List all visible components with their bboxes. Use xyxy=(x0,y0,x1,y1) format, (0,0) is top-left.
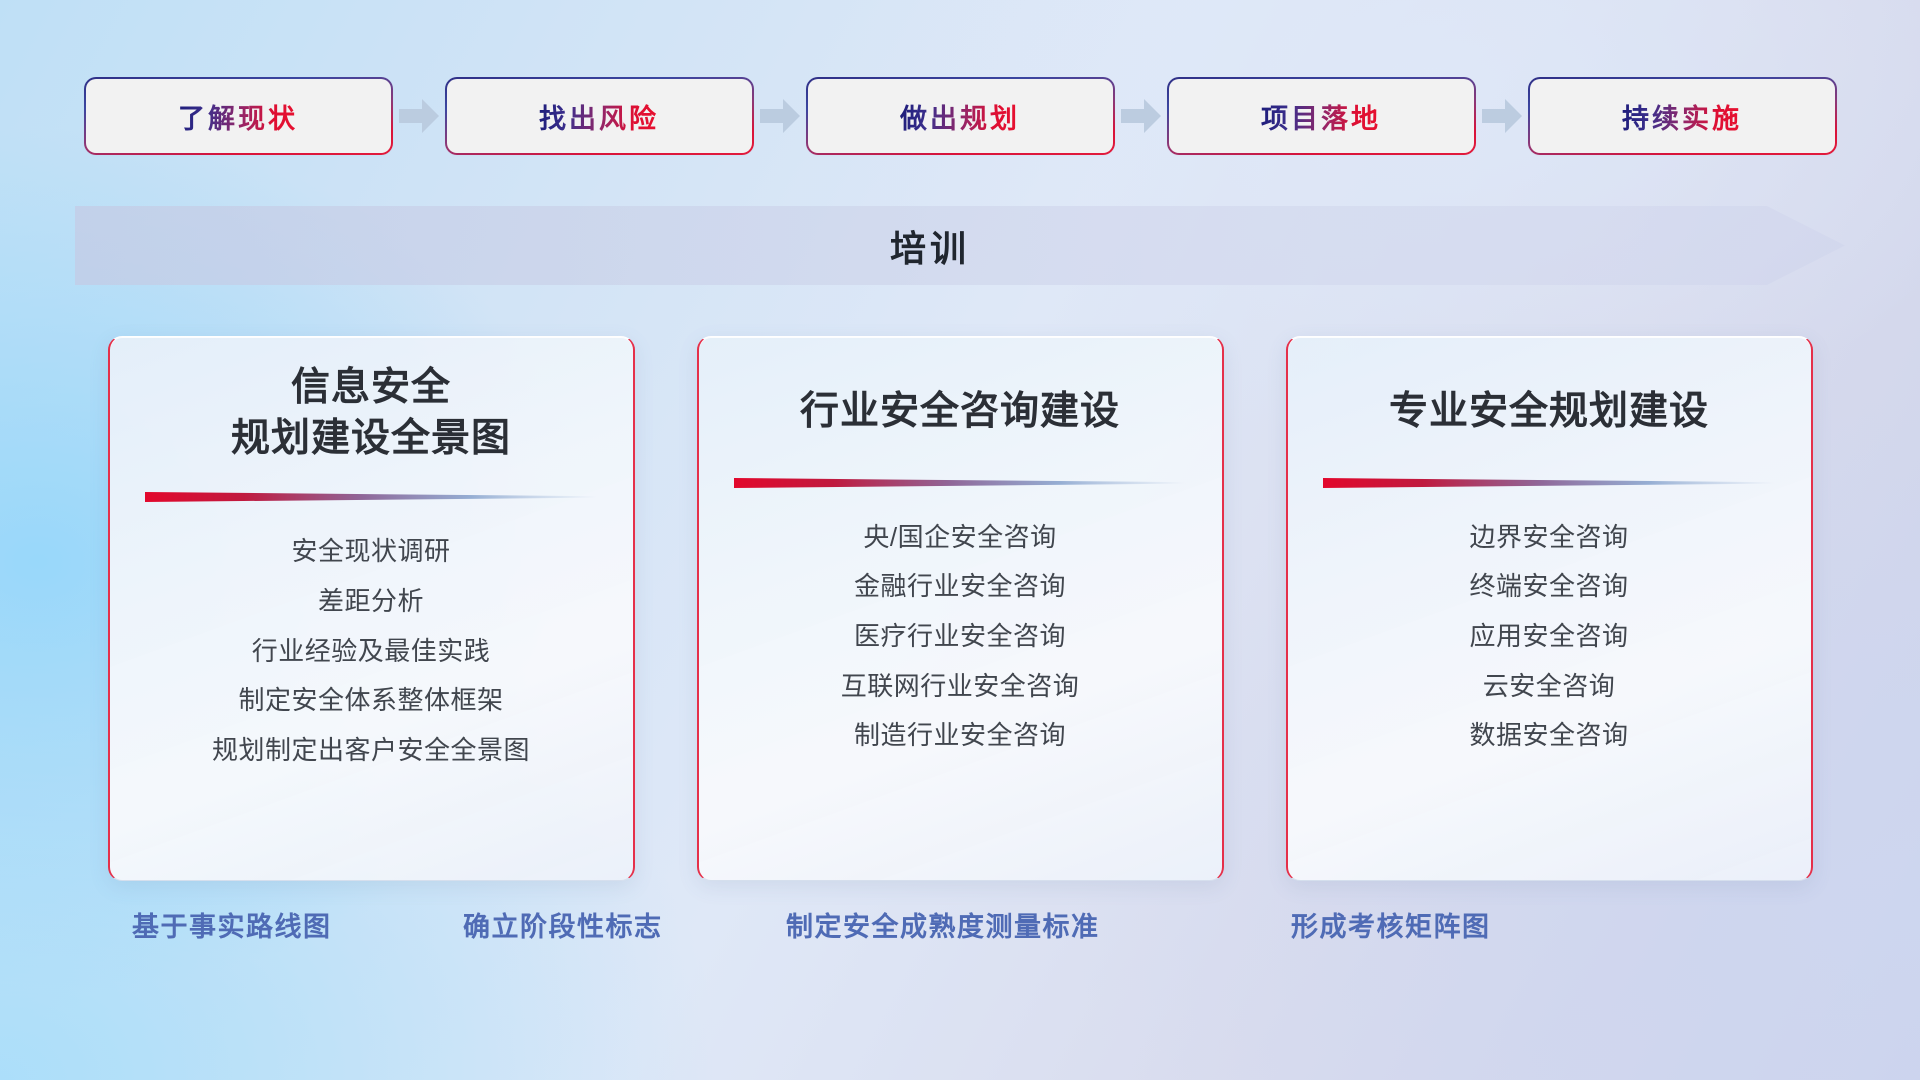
bottom-label-1: 基于事实路线图 xyxy=(132,905,332,944)
card-list-item: 安全现状调研 xyxy=(291,533,450,571)
card-title: 信息安全 规划建设全景图 xyxy=(231,363,511,464)
pipeline-arrow-4 xyxy=(1474,78,1530,154)
card-list-item: 云安全咨询 xyxy=(1483,668,1616,706)
training-banner-title: 培训 xyxy=(890,220,970,272)
pipeline-arrow-3 xyxy=(1113,78,1169,154)
card-list-item: 应用安全咨询 xyxy=(1469,618,1628,656)
card-list-item: 终端安全咨询 xyxy=(1469,568,1628,606)
card-accent-divider xyxy=(1323,476,1775,489)
card-title: 专业安全规划建设 xyxy=(1389,387,1709,438)
card-list-item: 差距分析 xyxy=(318,583,424,621)
card-list-item: 边界安全咨询 xyxy=(1469,519,1628,557)
card-item-list: 安全现状调研差距分析行业经验及最佳实践制定安全体系整体框架规划制定出客户安全全景… xyxy=(110,533,633,769)
pipeline-step-2[interactable]: 找出风险 xyxy=(447,79,752,153)
capability-cards: 信息安全 规划建设全景图安全现状调研差距分析行业经验及最佳实践制定安全体系整体框… xyxy=(0,336,1920,881)
card-list-item: 央/国企安全咨询 xyxy=(863,519,1056,557)
capability-card-2[interactable]: 行业安全咨询建设央/国企安全咨询金融行业安全咨询医疗行业安全咨询互联网行业安全咨… xyxy=(697,336,1224,881)
pipeline-step-1[interactable]: 了解现状 xyxy=(86,79,391,153)
pipeline-arrow-2 xyxy=(752,78,808,154)
card-list-item: 数据安全咨询 xyxy=(1469,717,1628,755)
pipeline-step-label: 项目落地 xyxy=(1261,97,1381,136)
card-list-item: 医疗行业安全咨询 xyxy=(854,618,1066,656)
pipeline-step-3[interactable]: 做出规划 xyxy=(808,79,1113,153)
pipeline-step-5[interactable]: 持续实施 xyxy=(1530,79,1835,153)
bottom-label-4: 形成考核矩阵图 xyxy=(1291,905,1491,944)
pipeline-step-label: 做出规划 xyxy=(900,97,1020,136)
arrow-right-icon xyxy=(1119,96,1163,136)
card-item-list: 边界安全咨询终端安全咨询应用安全咨询云安全咨询数据安全咨询 xyxy=(1288,519,1811,755)
card-accent-divider xyxy=(734,476,1186,489)
bottom-label-row: 基于事实路线图确立阶段性标志制定安全成熟度测量标准形成考核矩阵图 xyxy=(0,905,1920,965)
pipeline-step-label: 了解现状 xyxy=(178,97,298,136)
card-accent-divider xyxy=(145,490,597,503)
arrow-right-icon xyxy=(1480,96,1524,136)
card-list-item: 规划制定出客户安全全景图 xyxy=(212,732,530,770)
pipeline-step-label: 持续实施 xyxy=(1622,97,1742,136)
card-item-list: 央/国企安全咨询金融行业安全咨询医疗行业安全咨询互联网行业安全咨询制造行业安全咨… xyxy=(699,519,1222,755)
pipeline-step-4[interactable]: 项目落地 xyxy=(1169,79,1474,153)
pipeline-step-label: 找出风险 xyxy=(539,97,659,136)
card-list-item: 制定安全体系整体框架 xyxy=(238,682,503,720)
training-banner: 培训 xyxy=(75,206,1845,285)
capability-card-3[interactable]: 专业安全规划建设边界安全咨询终端安全咨询应用安全咨询云安全咨询数据安全咨询 xyxy=(1286,336,1813,881)
card-title: 行业安全咨询建设 xyxy=(800,387,1120,438)
bottom-label-3: 制定安全成熟度测量标准 xyxy=(786,905,1100,944)
arrow-right-icon xyxy=(758,96,802,136)
pipeline-arrow-1 xyxy=(391,78,447,154)
card-list-item: 金融行业安全咨询 xyxy=(854,568,1066,606)
pipeline-steps: 了解现状找出风险做出规划项目落地持续实施 xyxy=(0,78,1920,154)
arrow-right-icon xyxy=(397,96,441,136)
card-list-item: 制造行业安全咨询 xyxy=(854,717,1066,755)
card-list-item: 互联网行业安全咨询 xyxy=(841,668,1080,706)
card-list-item: 行业经验及最佳实践 xyxy=(252,633,491,671)
capability-card-1[interactable]: 信息安全 规划建设全景图安全现状调研差距分析行业经验及最佳实践制定安全体系整体框… xyxy=(108,336,635,881)
bottom-label-2: 确立阶段性标志 xyxy=(463,905,663,944)
